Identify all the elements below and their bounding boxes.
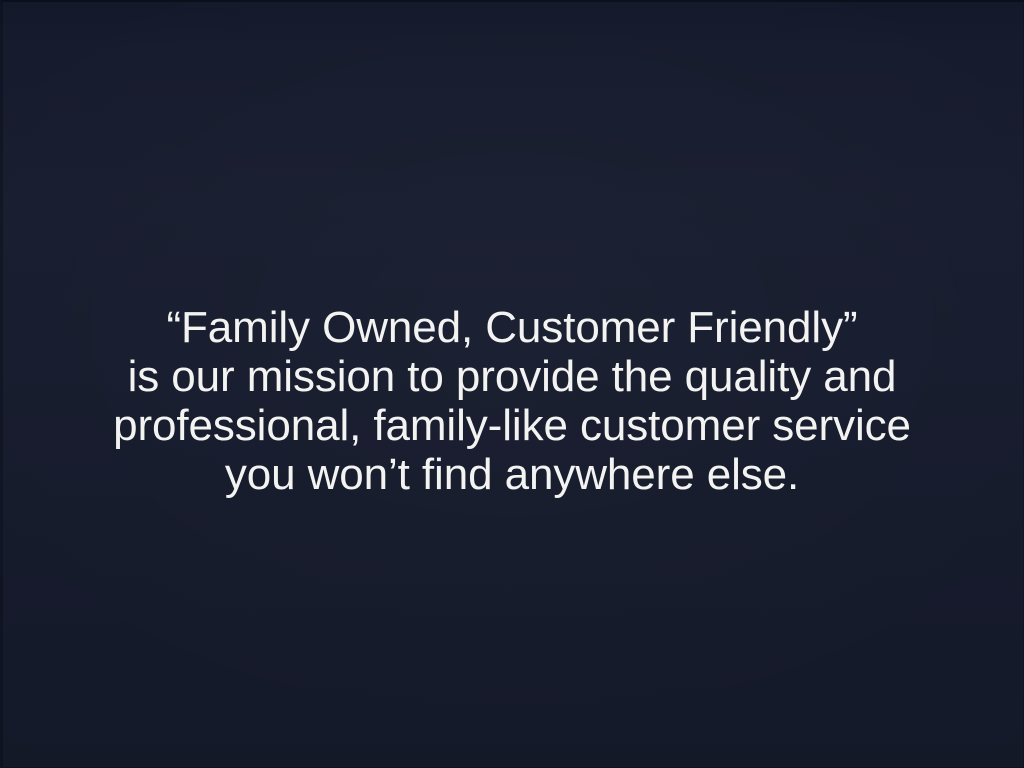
mission-line-4: you won’t find anywhere else.: [0, 450, 1024, 499]
mission-statement-text: “Family Owned, Customer Friendly” is our…: [0, 303, 1024, 499]
mission-line-2: is our mission to provide the quality an…: [0, 352, 1024, 401]
mission-statement-slide: “Family Owned, Customer Friendly” is our…: [0, 0, 1024, 768]
mission-line-3: professional, family-like customer servi…: [0, 401, 1024, 450]
mission-line-1: “Family Owned, Customer Friendly”: [0, 303, 1024, 352]
